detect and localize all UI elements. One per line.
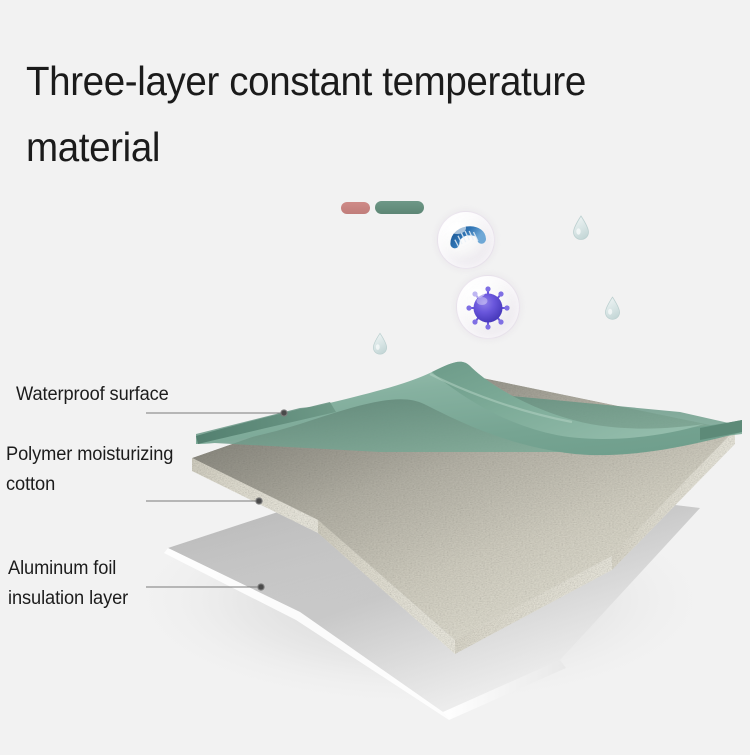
material-stack: [0, 0, 750, 750]
label-polymer-cotton: Polymer moisturizing cotton: [6, 440, 173, 500]
layer-waterproof-surface: [196, 362, 742, 455]
product-feature-graphic: Three-layer constant temperature materia…: [0, 0, 750, 750]
label-aluminum-foil: Aluminum foil insulation layer: [8, 554, 128, 614]
label-waterproof-surface: Waterproof surface: [16, 380, 169, 410]
material-stack-svg: [0, 0, 750, 750]
